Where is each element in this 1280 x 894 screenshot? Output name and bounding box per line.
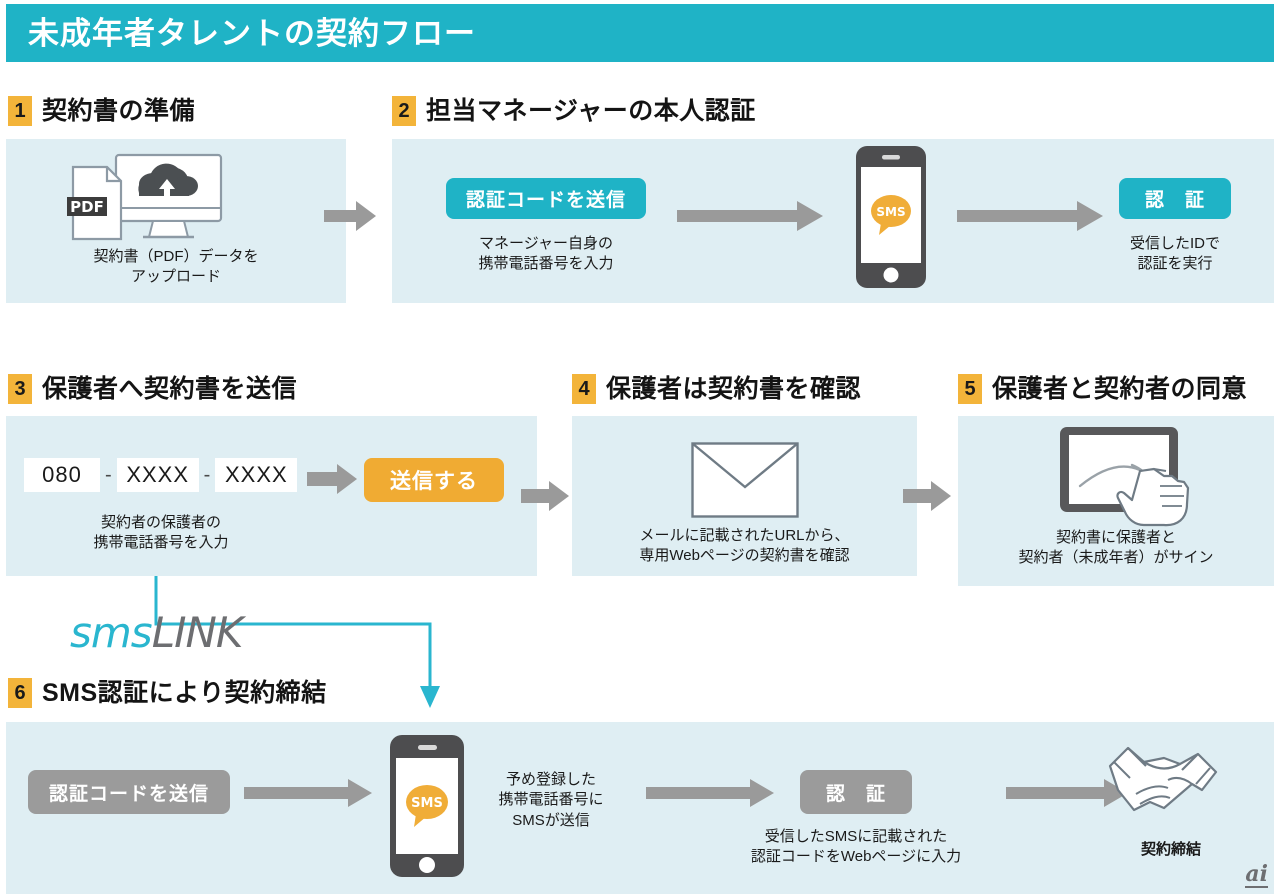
step-3-caption-line1: 契約者の保護者の <box>16 513 306 533</box>
step-2-title: 担当マネージャーの本人認証 <box>426 99 756 124</box>
handshake-label: 契約締結 <box>1101 840 1241 860</box>
step-4-caption-line2: 専用Webページの契約書を確認 <box>572 546 917 566</box>
step-6-auth-caption-line1: 受信したSMSに記載された <box>736 827 976 847</box>
step-1-caption-line2: アップロード <box>6 267 346 287</box>
send-auth-code-button-step6[interactable]: 認証コードを送信 <box>28 770 230 814</box>
step-3-panel: 080 - XXXX - XXXX 契約者の保護者の 携帯電話番号を入力 送信す… <box>6 416 537 576</box>
step-6-title: SMS認証により契約締結 <box>42 681 327 706</box>
step-5-heading: 5 保護者と契約者の同意 <box>958 372 1247 406</box>
step-4-panel: メールに記載されたURLから、 専用Webページの契約書を確認 <box>572 416 917 576</box>
step-2-heading: 2 担当マネージャーの本人認証 <box>392 94 756 128</box>
phone-input-part2[interactable]: XXXX <box>117 458 199 492</box>
svg-text:PDF: PDF <box>70 198 104 216</box>
tablet-signature-hand-icon <box>1036 424 1206 534</box>
send-auth-code-button-step2[interactable]: 認証コードを送信 <box>446 178 646 219</box>
step-5-caption-line2: 契約者（未成年者）がサイン <box>958 548 1274 568</box>
auth-button-step6[interactable]: 認 証 <box>800 770 912 814</box>
step-6-sms-caption-line1: 予め登録した <box>466 770 636 790</box>
step-6-badge: 6 <box>8 678 32 708</box>
step-2-auth-caption: 受信したIDで 認証を実行 <box>1105 234 1245 275</box>
phone-separator-1: - <box>100 464 117 487</box>
send-button-step3[interactable]: 送信する <box>364 458 504 502</box>
step-2-send-caption: マネージャー自身の 携帯電話番号を入力 <box>436 234 656 275</box>
step-3-caption: 契約者の保護者の 携帯電話番号を入力 <box>16 513 306 554</box>
step-6-auth-caption-line2: 認証コードをWebページに入力 <box>736 847 976 867</box>
arrow-send-to-phone-step2 <box>677 201 823 236</box>
step-6-panel: 認証コードを送信 SMS 予め登録した 携帯電話番号に SMSが送信 認 証 <box>6 722 1274 894</box>
step-2-auth-caption-line2: 認証を実行 <box>1105 254 1245 274</box>
phone-input-part3[interactable]: XXXX <box>215 458 297 492</box>
step-6-sms-caption-line3: SMSが送信 <box>466 811 636 831</box>
step-6-auth-caption: 受信したSMSに記載された 認証コードをWebページに入力 <box>736 827 976 868</box>
step-3-badge: 3 <box>8 374 32 404</box>
auth-button-step2[interactable]: 認 証 <box>1119 178 1231 219</box>
arrow-step4-to-step5 <box>903 481 951 516</box>
step-2-badge: 2 <box>392 96 416 126</box>
header-bar: 未成年者タレントの契約フロー <box>6 4 1274 62</box>
step-3-heading: 3 保護者へ契約書を送信 <box>8 372 297 406</box>
step-2-send-caption-line2: 携帯電話番号を入力 <box>436 254 656 274</box>
step-1-caption: 契約書（PDF）データを アップロード <box>6 247 346 288</box>
phone-input-part1[interactable]: 080 <box>24 458 100 492</box>
step-2-auth-caption-line1: 受信したIDで <box>1105 234 1245 254</box>
svg-text:SMS: SMS <box>876 205 905 219</box>
step-1-heading: 1 契約書の準備 <box>8 94 195 128</box>
step-5-title: 保護者と契約者の同意 <box>992 377 1247 402</box>
step-2-panel: 認証コードを送信 マネージャー自身の 携帯電話番号を入力 SMS 認 <box>392 139 1274 303</box>
step-5-panel: 契約書に保護者と 契約者（未成年者）がサイン <box>958 416 1274 586</box>
phone-separator-2: - <box>199 464 216 487</box>
step-5-caption-line1: 契約書に保護者と <box>958 528 1274 548</box>
arrow-sms-to-auth-step6 <box>646 779 774 812</box>
phone-number-input-group[interactable]: 080 - XXXX - XXXX <box>24 458 297 492</box>
step-4-caption-line1: メールに記載されたURLから、 <box>572 526 917 546</box>
step-6-sms-caption: 予め登録した 携帯電話番号に SMSが送信 <box>466 770 636 831</box>
step-2-send-caption-line1: マネージャー自身の <box>436 234 656 254</box>
step-1-caption-line1: 契約書（PDF）データを <box>6 247 346 267</box>
step-6-heading: 6 SMS認証により契約締結 <box>8 676 327 710</box>
step-4-caption: メールに記載されたURLから、 専用Webページの契約書を確認 <box>572 526 917 567</box>
step-3-title: 保護者へ契約書を送信 <box>42 377 297 402</box>
smartphone-sms-icon-step6: SMS <box>388 734 466 883</box>
step-6-sms-caption-line2: 携帯電話番号に <box>466 790 636 810</box>
svg-text:SMS: SMS <box>411 796 443 811</box>
step-4-title: 保護者は契約書を確認 <box>606 377 861 402</box>
logo-text-link: LINK <box>152 612 243 654</box>
step-4-badge: 4 <box>572 374 596 404</box>
page-title: 未成年者タレントの契約フロー <box>28 18 476 49</box>
step-4-heading: 4 保護者は契約書を確認 <box>572 372 861 406</box>
envelope-icon <box>691 442 799 523</box>
watermark: ai <box>1245 863 1268 888</box>
step-1-panel: PDF 契約書（PDF）データを アップロード <box>6 139 346 303</box>
arrow-step3-to-step4 <box>521 481 569 516</box>
step-1-badge: 1 <box>8 96 32 126</box>
step-5-badge: 5 <box>958 374 982 404</box>
step-3-caption-line2: 携帯電話番号を入力 <box>16 533 306 553</box>
step-5-caption: 契約書に保護者と 契約者（未成年者）がサイン <box>958 528 1274 569</box>
step-1-title: 契約書の準備 <box>42 99 195 124</box>
arrow-step1-to-step2 <box>324 200 376 237</box>
arrow-phone-to-auth-step2 <box>957 201 1103 236</box>
handshake-icon <box>1106 732 1232 841</box>
smartphone-sms-icon-step2: SMS <box>855 145 927 294</box>
arrow-input-to-send-step3 <box>307 464 357 499</box>
infographic-canvas: 未成年者タレントの契約フロー 1 契約書の準備 <box>0 0 1280 894</box>
logo-text-sms: sms <box>70 612 152 654</box>
pdf-upload-monitor-icon: PDF <box>61 153 236 243</box>
smslink-logo: sms LINK <box>70 612 242 654</box>
arrow-send-to-phone-step6 <box>244 779 372 812</box>
